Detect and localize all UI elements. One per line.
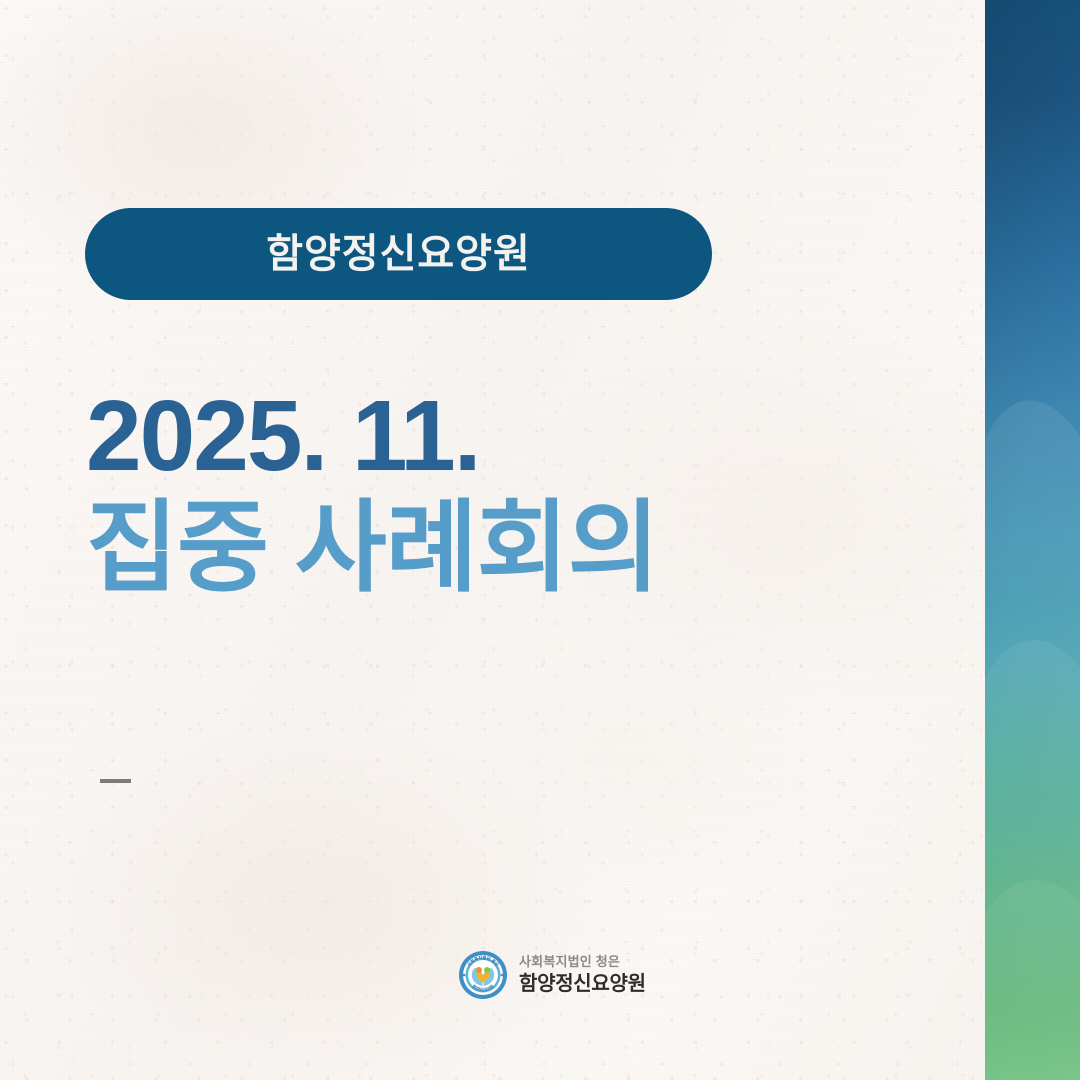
hands-heart-circle-emblem: 사회복지법인 청은 함양정신요양원 [458, 950, 508, 1000]
footer-org-name: 함양정신요양원 [519, 972, 646, 996]
short-dash-divider [100, 779, 131, 783]
headline-date-line: 2025. 11. [86, 380, 906, 492]
vertical-gradient-strip [985, 0, 1080, 1080]
footer-org-subtitle: 사회복지법인 청은 [519, 954, 646, 970]
gradient-shade-overlay [985, 0, 1080, 1080]
poster-canvas: 함양정신요양원 2025. 11. 집중 사례회의 [0, 0, 1080, 1080]
organization-badge-label: 함양정신요양원 [266, 234, 531, 274]
headline-subject-line: 집중 사례회의 [86, 492, 906, 604]
footer-text-block: 사회복지법인 청은 함양정신요양원 [519, 954, 646, 995]
page-title: 2025. 11. 집중 사례회의 [86, 380, 906, 604]
footer-logo-lockup: 사회복지법인 청은 함양정신요양원 사회복지법인 청은 함양정신요양원 [458, 950, 646, 1000]
organization-badge: 함양정신요양원 [85, 208, 712, 300]
